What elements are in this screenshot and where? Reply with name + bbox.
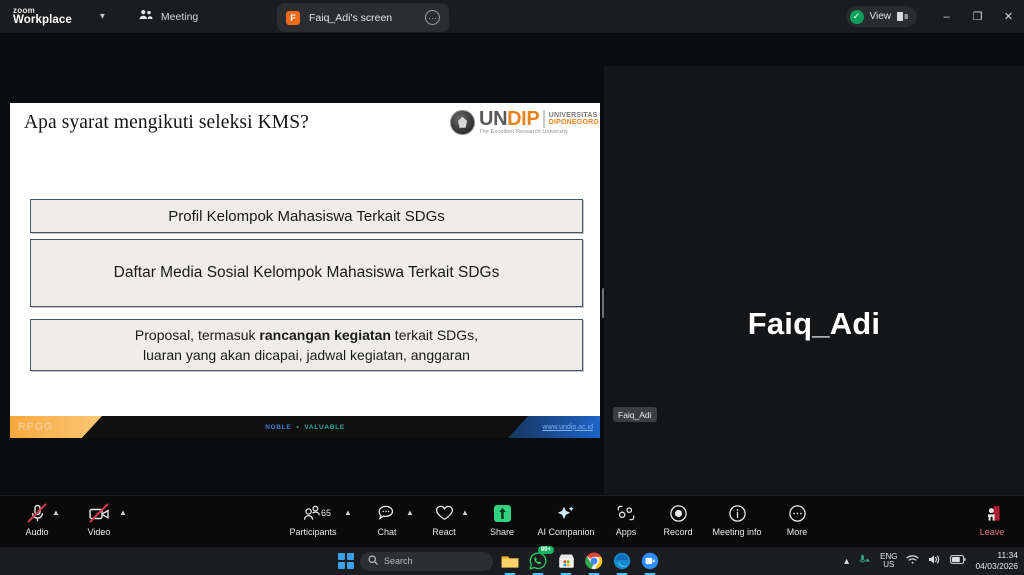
toolbar-participants-button[interactable]: Participants bbox=[284, 502, 342, 537]
taskbar-app-edge[interactable] bbox=[611, 550, 633, 572]
toolbar-leave-button[interactable]: Leave bbox=[963, 502, 1021, 537]
undip-logo: UN DIP UNIVERSITAS DIPONEGORO The Excell… bbox=[450, 109, 599, 136]
chevron-down-icon[interactable]: ▾ bbox=[100, 11, 105, 22]
toolbar-meeting-info-label: Meeting info bbox=[712, 527, 761, 537]
record-icon bbox=[670, 502, 687, 524]
slide-title: Apa syarat mengikuti seleksi KMS? bbox=[24, 112, 309, 134]
zoom-workplace-logo: zoom Workplace bbox=[13, 7, 72, 27]
info-icon bbox=[729, 502, 746, 524]
logo-divider bbox=[543, 110, 545, 128]
taskbar-app-file-explorer[interactable] bbox=[499, 550, 521, 572]
chevron-up-icon[interactable]: ▴ bbox=[844, 556, 849, 567]
taskbar-center-group: Search 99+ bbox=[338, 547, 661, 575]
toolbar-share-label: Share bbox=[490, 527, 514, 537]
taskbar-app-whatsapp[interactable]: 99+ bbox=[527, 550, 549, 572]
toolbar-more-button[interactable]: More bbox=[768, 502, 826, 537]
taskbar-search-placeholder: Search bbox=[384, 556, 413, 566]
windows-start-icon[interactable] bbox=[338, 553, 354, 569]
undip-tagline: The Excellent Research University bbox=[479, 130, 599, 136]
layout-icon bbox=[897, 8, 908, 26]
requirement-box-3: Proposal, termasuk rancangan kegiatan te… bbox=[30, 319, 583, 371]
motto-noble: NOBLE bbox=[265, 424, 291, 431]
meeting-stage: Apa syarat mengikuti seleksi KMS? UN DIP… bbox=[0, 33, 1024, 495]
requirement-box-1: Profil Kelompok Mahasiswa Terkait SDGs bbox=[30, 199, 583, 233]
tab-shared-screen-label: Faiq_Adi's screen bbox=[309, 12, 425, 24]
toolbar-ai-companion-button[interactable]: AI Companion bbox=[537, 502, 595, 537]
undip-sub-line1: UNIVERSITAS bbox=[549, 112, 599, 119]
slide-footer: NOBLE • VALUABLE RPGG www.undip.ac.id bbox=[10, 416, 600, 438]
toolbar-record-button[interactable]: Record bbox=[649, 502, 707, 537]
toolbar-participants-label: Participants bbox=[289, 527, 336, 537]
toolbar-more-label: More bbox=[787, 527, 808, 537]
motto-valuable: VALUABLE bbox=[304, 424, 345, 431]
clock-time: 11:34 bbox=[975, 550, 1018, 561]
language-line-2: US bbox=[880, 561, 897, 569]
search-icon bbox=[368, 552, 378, 570]
requirement-box-2: Daftar Media Sosial Kelompok Mahasiswa T… bbox=[30, 239, 583, 307]
toolbar-apps-button[interactable]: Apps bbox=[597, 502, 655, 537]
video-options-chevron-icon[interactable]: ▲ bbox=[119, 508, 127, 517]
undip-word-first: UN bbox=[479, 109, 507, 129]
maximize-button[interactable]: ❐ bbox=[962, 0, 993, 33]
clock-date: 04/03/2026 bbox=[975, 561, 1018, 572]
microphone-tray-icon[interactable] bbox=[858, 554, 871, 569]
people-icon bbox=[139, 8, 153, 26]
react-options-chevron-icon[interactable]: ▲ bbox=[461, 508, 469, 517]
requirement-box-2-text: Daftar Media Sosial Kelompok Mahasiswa T… bbox=[114, 264, 500, 282]
requirement-box-3-part2: terkait SDGs, bbox=[391, 327, 478, 343]
share-screen-icon bbox=[494, 502, 511, 524]
leave-door-icon bbox=[982, 502, 1002, 524]
heart-icon bbox=[435, 502, 454, 524]
undip-seal-icon bbox=[450, 110, 475, 135]
apps-icon bbox=[617, 502, 635, 524]
audio-options-chevron-icon[interactable]: ▲ bbox=[52, 508, 60, 517]
undip-word-second: DIP bbox=[507, 109, 539, 129]
toolbar-apps-label: Apps bbox=[616, 527, 637, 537]
system-tray: ▴ ENG US bbox=[844, 547, 1018, 575]
zoom-toolbar: Audio ▲ Video ▲ Participants bbox=[0, 495, 1024, 547]
motto-separator: • bbox=[296, 424, 299, 431]
taskbar-search-input[interactable]: Search bbox=[360, 552, 493, 571]
people-icon bbox=[304, 502, 322, 524]
toolbar-audio-label: Audio bbox=[25, 527, 48, 537]
sparkle-icon bbox=[556, 502, 576, 524]
toolbar-share-button[interactable]: Share bbox=[473, 502, 531, 537]
more-options-icon[interactable]: ⋯ bbox=[425, 10, 440, 25]
taskbar-clock[interactable]: 11:34 04/03/2026 bbox=[975, 550, 1018, 571]
language-indicator[interactable]: ENG US bbox=[880, 553, 897, 570]
requirement-box-3-bold: rancangan kegiatan bbox=[259, 327, 391, 343]
requirement-box-3-line2: luaran yang akan dicapai, jadwal kegiata… bbox=[143, 347, 470, 363]
toolbar-chat-label: Chat bbox=[377, 527, 396, 537]
window-controls: – ❐ ✕ bbox=[931, 0, 1024, 33]
whatsapp-unread-badge: 99+ bbox=[538, 546, 554, 554]
microphone-muted-icon bbox=[30, 502, 45, 524]
minimize-button[interactable]: – bbox=[931, 0, 962, 33]
footer-website-link: www.undip.ac.id bbox=[542, 424, 593, 431]
toolbar-record-label: Record bbox=[663, 527, 692, 537]
logo-line-2: Workplace bbox=[13, 15, 72, 27]
zoom-meeting-window: zoom Workplace ▾ Meeting F Faiq_Adi's sc… bbox=[0, 0, 1024, 575]
chat-bubble-icon bbox=[378, 502, 396, 524]
tab-meeting-label: Meeting bbox=[161, 11, 198, 23]
tab-meeting[interactable]: Meeting bbox=[129, 3, 208, 31]
undip-sub-line2: DIPONEGORO bbox=[549, 119, 599, 126]
battery-icon[interactable] bbox=[950, 555, 966, 567]
footer-left-ribbon-text: RPGG bbox=[18, 421, 53, 433]
participants-count: 65 bbox=[321, 508, 331, 518]
requirement-box-3-part1: Proposal, termasuk bbox=[135, 327, 260, 343]
title-bar: zoom Workplace ▾ Meeting F Faiq_Adi's sc… bbox=[0, 0, 1024, 33]
toolbar-video-label: Video bbox=[88, 527, 111, 537]
wifi-icon[interactable] bbox=[906, 554, 919, 568]
participant-video-tile[interactable]: Faiq_Adi Faiq_Adi bbox=[604, 66, 1024, 528]
close-button[interactable]: ✕ bbox=[993, 0, 1024, 33]
toolbar-ai-companion-label: AI Companion bbox=[537, 527, 594, 537]
chat-options-chevron-icon[interactable]: ▲ bbox=[406, 508, 414, 517]
participant-display-name: Faiq_Adi bbox=[604, 306, 1024, 342]
undip-wordmark: UN DIP UNIVERSITAS DIPONEGORO The Excell… bbox=[479, 109, 599, 136]
participant-avatar: F bbox=[286, 11, 300, 25]
speaker-icon[interactable] bbox=[928, 554, 941, 568]
taskbar-app-zoom[interactable] bbox=[639, 550, 661, 572]
participants-options-chevron-icon[interactable]: ▲ bbox=[344, 508, 352, 517]
view-button[interactable]: ✓ View bbox=[846, 6, 918, 27]
windows-taskbar: Search 99+ bbox=[0, 547, 1024, 575]
toolbar-leave-label: Leave bbox=[980, 527, 1005, 537]
encryption-shield-icon: ✓ bbox=[850, 10, 864, 24]
view-button-label: View bbox=[870, 11, 892, 22]
toolbar-meeting-info-button[interactable]: Meeting info bbox=[708, 502, 766, 537]
taskbar-app-microsoft-store[interactable] bbox=[555, 550, 577, 572]
requirement-box-1-text: Profil Kelompok Mahasiswa Terkait SDGs bbox=[168, 208, 445, 225]
camera-muted-icon bbox=[89, 502, 110, 524]
shared-screen-slide: Apa syarat mengikuti seleksi KMS? UN DIP… bbox=[10, 103, 600, 438]
taskbar-app-chrome[interactable] bbox=[583, 550, 605, 572]
tab-shared-screen[interactable]: F Faiq_Adi's screen ⋯ bbox=[277, 3, 449, 32]
ellipsis-icon bbox=[789, 502, 806, 524]
toolbar-react-label: React bbox=[432, 527, 456, 537]
participant-name-badge: Faiq_Adi bbox=[613, 407, 657, 422]
